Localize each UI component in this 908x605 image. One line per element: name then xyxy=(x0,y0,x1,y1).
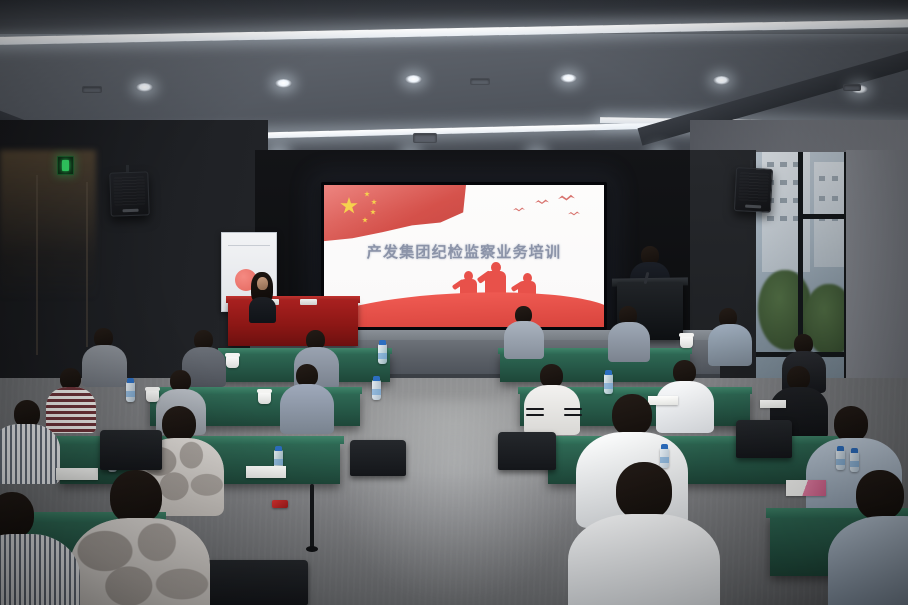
handout-paper xyxy=(760,400,786,408)
water-bottle xyxy=(378,344,387,364)
chair-back xyxy=(736,420,792,458)
attendee-body xyxy=(0,424,60,484)
chair-back xyxy=(498,432,556,470)
speaker-logo xyxy=(122,209,138,213)
bottle-label xyxy=(660,457,669,463)
downlight-2 xyxy=(275,79,292,88)
jacket-sleeve-stripe xyxy=(526,408,544,410)
bottle-label xyxy=(604,383,613,389)
downlight-3 xyxy=(405,75,422,84)
wall-speaker-right xyxy=(734,167,773,213)
pink-handout xyxy=(786,480,826,496)
exterior-building-window xyxy=(832,196,838,201)
head-table xyxy=(228,300,358,346)
attendee-head xyxy=(834,406,868,442)
cup-lid xyxy=(679,333,694,337)
exterior-building-window xyxy=(767,216,774,221)
bottle-label xyxy=(274,459,283,465)
ceiling-vent-3 xyxy=(843,84,861,91)
notebook-page xyxy=(56,468,98,480)
notebook-page xyxy=(246,466,286,478)
exterior-building-window xyxy=(780,180,787,185)
exit-running-man-icon xyxy=(62,160,69,171)
jacket-sleeve-stripe xyxy=(564,408,582,410)
led-presentation-screen[interactable]: 产发集团纪检监察业务培训 xyxy=(321,182,607,330)
water-bottle xyxy=(660,448,669,468)
red-wave-front xyxy=(324,287,604,327)
wall-speaker-left xyxy=(109,171,150,216)
bottle-label xyxy=(372,389,381,395)
attendee-head xyxy=(110,470,162,524)
presentation-title: 产发集团纪检监察业务培训 xyxy=(324,241,604,262)
bottle-label xyxy=(850,461,859,467)
cup-lid xyxy=(145,387,160,391)
paper-cup xyxy=(226,356,239,368)
screen-content: 产发集团纪检监察业务培训 xyxy=(324,185,604,327)
flying-bird xyxy=(513,207,525,213)
attendee-body xyxy=(504,321,544,359)
water-bottle xyxy=(372,380,381,400)
ceiling-vent-2 xyxy=(470,78,490,85)
chair-back xyxy=(350,440,406,476)
banner-line xyxy=(228,245,270,246)
bottle-cap xyxy=(373,376,380,381)
table-leg xyxy=(310,484,314,548)
attendee-head xyxy=(612,394,652,436)
striped-shirt-pattern xyxy=(0,424,60,484)
attendee-head xyxy=(162,406,196,442)
conference-room-photo: 产发集团纪检监察业务培训 xyxy=(0,0,908,605)
ceiling-vent-1 xyxy=(82,86,102,93)
cup-lid xyxy=(225,353,240,357)
window-mullion-horizontal xyxy=(798,214,852,219)
bottle-label xyxy=(378,353,387,359)
attendee-body xyxy=(46,387,96,433)
speaker-grill xyxy=(738,172,768,201)
downlight-1 xyxy=(136,83,153,92)
water-bottle xyxy=(850,452,859,472)
flying-bird xyxy=(535,199,549,206)
bottle-cap xyxy=(851,448,858,453)
attendee-body xyxy=(568,514,720,605)
exterior-building-window xyxy=(780,216,787,221)
moderator-body xyxy=(249,297,276,323)
moderator-head xyxy=(257,277,268,290)
attendee-head xyxy=(616,462,672,520)
jacket-sleeve-stripe xyxy=(526,414,544,416)
name-plate xyxy=(300,299,317,305)
attendee-body xyxy=(280,384,334,434)
exterior-building-window xyxy=(819,176,825,181)
exterior-building-window xyxy=(819,196,825,201)
speaker-grill xyxy=(113,176,145,205)
wall-left-warm-light xyxy=(0,150,96,300)
striped-shirt-pattern xyxy=(46,387,96,433)
water-bottle xyxy=(126,382,135,402)
attendee-head xyxy=(0,492,34,538)
bottle-cap xyxy=(661,444,668,449)
bottle-cap xyxy=(275,446,282,451)
cup-lid xyxy=(257,389,272,393)
attendee-body xyxy=(82,345,127,387)
water-bottle xyxy=(604,374,613,394)
paper-cup xyxy=(146,390,159,402)
attendee-body xyxy=(708,324,752,366)
ceiling-vent-4 xyxy=(413,133,437,143)
bottle-cap xyxy=(379,340,386,345)
flying-bird xyxy=(558,194,575,203)
downlight-5 xyxy=(713,76,730,85)
speaker-logo xyxy=(745,205,761,209)
attendee-body xyxy=(70,518,210,605)
attendee-head xyxy=(856,470,904,520)
flying-bird xyxy=(568,211,580,217)
attendee-body xyxy=(656,381,714,433)
chair-back xyxy=(100,430,162,470)
bottle-cap xyxy=(127,378,134,383)
exterior-building-window xyxy=(832,176,838,181)
handout-paper xyxy=(648,396,678,405)
patterned-jacket xyxy=(70,518,210,605)
bottle-cap xyxy=(837,446,844,451)
bottle-label xyxy=(836,459,845,465)
downlight-4 xyxy=(560,74,577,83)
paper-cup xyxy=(680,336,693,348)
exit-sign xyxy=(57,156,74,175)
attendee-body xyxy=(608,322,650,362)
door-edge-1 xyxy=(36,175,38,355)
bottle-cap xyxy=(605,370,612,375)
exterior-building-window xyxy=(767,162,774,167)
door-edge-2 xyxy=(86,182,88,347)
bottle-label xyxy=(126,391,135,397)
jacket-sleeve-stripe xyxy=(564,414,582,416)
mobile-phone xyxy=(272,500,288,508)
exterior-building-window xyxy=(780,198,787,203)
exterior-building-window xyxy=(780,162,787,167)
water-bottle xyxy=(836,450,845,470)
table-leg-foot xyxy=(306,546,318,552)
attendee-body xyxy=(524,385,580,435)
paper-cup xyxy=(258,392,271,404)
